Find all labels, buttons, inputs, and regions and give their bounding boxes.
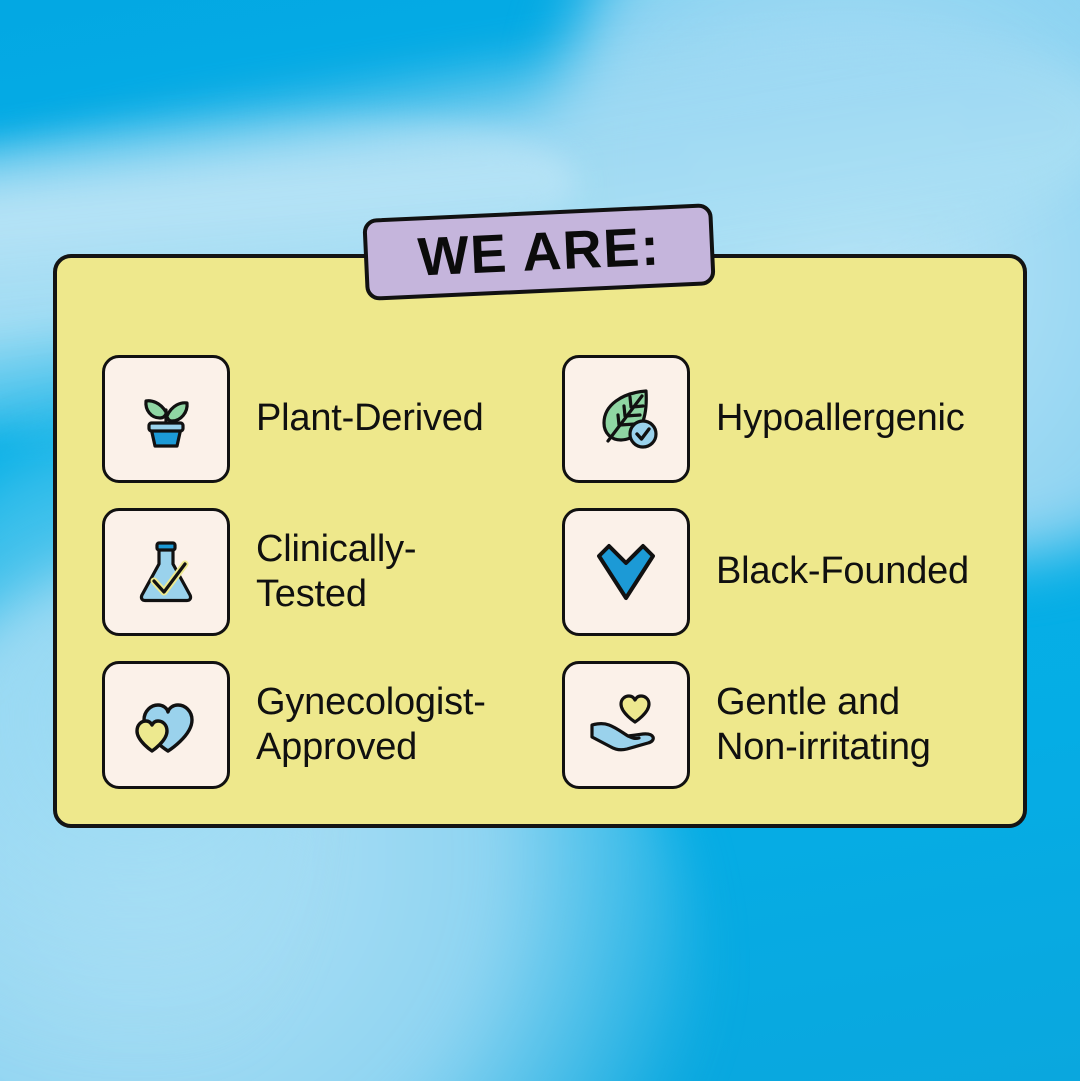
feature-label: Hypoallergenic xyxy=(716,396,965,441)
feature-plant-derived: Plant-Derived xyxy=(102,342,562,495)
icon-tile xyxy=(102,508,230,636)
feature-black-founded: Black-Founded xyxy=(562,495,992,648)
heart-icon xyxy=(585,536,667,608)
feature-gentle-non-irritating: Gentle and Non-irritating xyxy=(562,648,992,801)
icon-tile xyxy=(562,508,690,636)
badge-label: WE ARE: xyxy=(417,220,662,285)
feature-clinically-tested: Clinically- Tested xyxy=(102,495,562,648)
features-grid: Plant-Derived xyxy=(102,342,992,801)
two-hearts-icon xyxy=(124,689,208,761)
flask-check-icon xyxy=(128,534,204,610)
feature-gynecologist-approved: Gynecologist- Approved xyxy=(102,648,562,801)
icon-tile xyxy=(562,355,690,483)
feature-label: Plant-Derived xyxy=(256,396,484,441)
icon-tile xyxy=(102,355,230,483)
potted-plant-icon xyxy=(127,380,205,458)
icon-tile xyxy=(102,661,230,789)
hand-holding-heart-icon xyxy=(583,687,669,763)
we-are-badge: WE ARE: xyxy=(362,203,715,301)
leaf-check-icon xyxy=(586,379,666,459)
feature-label: Clinically- Tested xyxy=(256,527,416,617)
feature-label: Black-Founded xyxy=(716,549,969,594)
feature-label: Gentle and Non-irritating xyxy=(716,680,931,770)
feature-label: Gynecologist- Approved xyxy=(256,680,486,770)
promo-graphic: Plant-Derived xyxy=(0,0,1080,1081)
icon-tile xyxy=(562,661,690,789)
features-card: Plant-Derived xyxy=(53,254,1027,828)
feature-hypoallergenic: Hypoallergenic xyxy=(562,342,992,495)
